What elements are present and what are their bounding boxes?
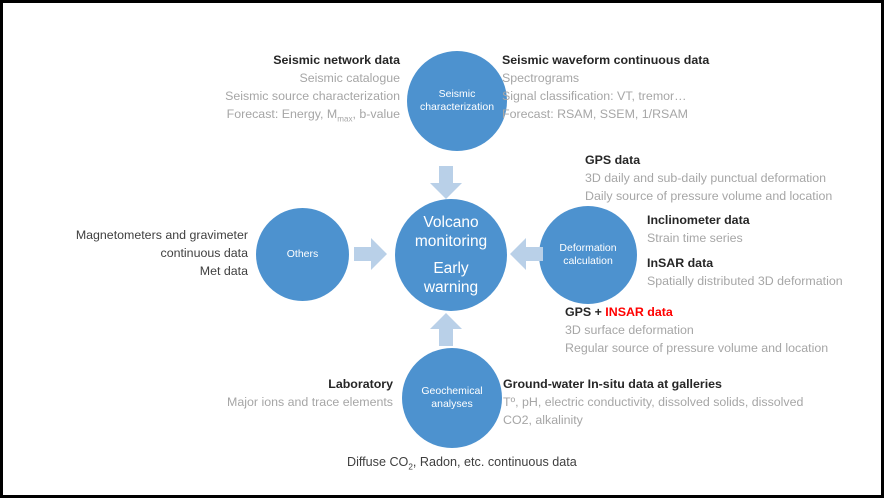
arrow-down-icon (428, 166, 464, 200)
groundwater-line-2: CO2, alkalinity (503, 412, 863, 430)
others-line-2: continuous data (23, 245, 248, 263)
inclinometer-header: Inclinometer data (647, 212, 884, 230)
seismic-waveform-line-3: Forecast: RSAM, SSEM, 1/RSAM (502, 106, 862, 124)
text-block-seismic-waveform: Seismic waveform continuous data Spectro… (502, 52, 862, 124)
seismic-network-line-3: Forecast: Energy, Mmax, b-value (63, 106, 400, 125)
arrow-up-geochemical-to-center (428, 313, 464, 347)
node-deformation-line2: calculation (563, 255, 613, 267)
arrow-up-icon (428, 313, 464, 347)
gps-insar-header-prefix: GPS + (565, 305, 605, 319)
text-block-seismic-network: Seismic network data Seismic catalogue S… (63, 52, 400, 125)
seismic-network-header: Seismic network data (63, 52, 400, 70)
arrow-down-seismic-to-center (428, 166, 464, 200)
gps-insar-header-accent: INSAR data (605, 305, 672, 319)
others-line-1: Magnetometers and gravimeter (23, 227, 248, 245)
text-block-inclinometer: Inclinometer data Strain time series (647, 212, 884, 248)
center-line3: Early (401, 259, 501, 278)
seismic-network-line-1: Seismic catalogue (63, 70, 400, 88)
seismic-network-line-2: Seismic source characterization (63, 88, 400, 106)
center-line4: warning (401, 278, 501, 297)
node-geochemical-label: Geochemical analyses (402, 385, 502, 411)
text-block-others: Magnetometers and gravimeter continuous … (23, 227, 248, 281)
seismic-waveform-line-1: Spectrograms (502, 70, 862, 88)
arrow-left-deformation-to-center (510, 236, 544, 272)
center-line1: Volcano (401, 213, 501, 232)
groundwater-line-1: Tº, pH, electric conductivity, dissolved… (503, 394, 863, 412)
gps-insar-line-1: 3D surface deformation (565, 322, 875, 340)
node-seismic-line1: Seismic (439, 88, 476, 100)
diagram-canvas: Seismic characterization Volcano monitor… (0, 0, 884, 498)
caption-diffuse-co2: Diffuse CO2, Radon, etc. continuous data (347, 455, 577, 472)
insar-line-1: Spatially distributed 3D deformation (647, 273, 884, 291)
gps-insar-header: GPS + INSAR data (565, 304, 875, 322)
arrow-left-icon (510, 236, 544, 272)
caption-prefix: Diffuse CO (347, 455, 408, 469)
node-seismic-characterization[interactable]: Seismic characterization (407, 51, 507, 151)
gps-insar-line-2: Regular source of pressure volume and lo… (565, 340, 875, 358)
gps-header: GPS data (585, 152, 884, 170)
node-seismic-line2: characterization (420, 101, 494, 113)
laboratory-header: Laboratory (113, 376, 393, 394)
insar-header: InSAR data (647, 255, 884, 273)
text-block-laboratory: Laboratory Major ions and trace elements (113, 376, 393, 412)
node-deformation-calculation[interactable]: Deformation calculation (539, 206, 637, 304)
center-line2: monitoring (401, 232, 501, 251)
node-others-line1: Others (287, 248, 319, 260)
node-geochemical-line2: analyses (431, 398, 472, 410)
node-seismic-characterization-label: Seismic characterization (407, 88, 507, 114)
node-center-label: Volcano monitoring Early warning (395, 213, 507, 298)
text-block-gps: GPS data 3D daily and sub-daily punctual… (585, 152, 884, 206)
seismic-waveform-line-2: Signal classification: VT, tremor… (502, 88, 862, 106)
center-spacer (401, 252, 501, 259)
arrow-right-others-to-center (353, 236, 387, 272)
node-deformation-line1: Deformation (559, 242, 616, 254)
inclinometer-line-1: Strain time series (647, 230, 884, 248)
groundwater-header: Ground-water In-situ data at galleries (503, 376, 863, 394)
text-block-gps-insar: GPS + INSAR data 3D surface deformation … (565, 304, 875, 358)
caption-suffix: , Radon, etc. continuous data (413, 455, 577, 469)
node-deformation-label: Deformation calculation (539, 242, 637, 268)
node-geochemical-analyses[interactable]: Geochemical analyses (402, 348, 502, 448)
node-others-label: Others (256, 248, 349, 261)
node-geochemical-line1: Geochemical (421, 385, 482, 397)
others-line-3: Met data (23, 263, 248, 281)
laboratory-line-1: Major ions and trace elements (113, 394, 393, 412)
node-others[interactable]: Others (256, 208, 349, 301)
seismic-waveform-header: Seismic waveform continuous data (502, 52, 862, 70)
text-block-insar: InSAR data Spatially distributed 3D defo… (647, 255, 884, 291)
node-center-volcano-monitoring[interactable]: Volcano monitoring Early warning (395, 199, 507, 311)
arrow-right-icon (353, 236, 387, 272)
gps-line-2: Daily source of pressure volume and loca… (585, 188, 884, 206)
text-block-groundwater: Ground-water In-situ data at galleries T… (503, 376, 863, 430)
gps-line-1: 3D daily and sub-daily punctual deformat… (585, 170, 884, 188)
